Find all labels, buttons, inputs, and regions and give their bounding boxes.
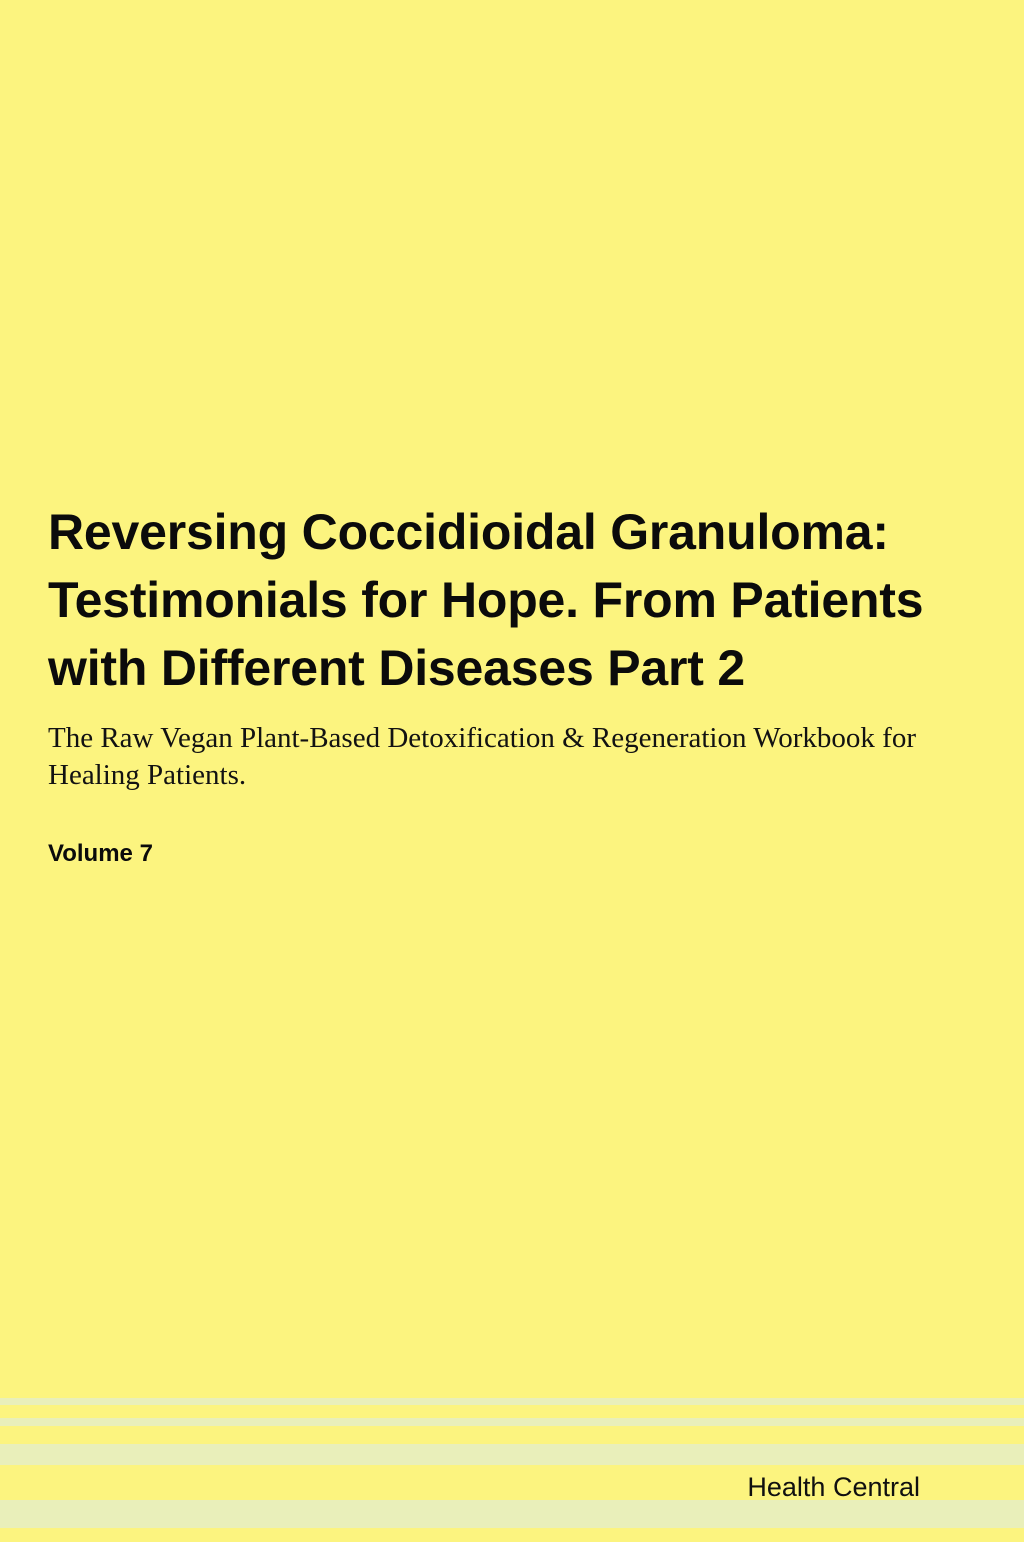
cover-subtitle: The Raw Vegan Plant-Based Detoxification…: [48, 702, 928, 794]
book-cover: Reversing Coccidioidal Granuloma: Testim…: [0, 0, 1024, 1542]
cover-text-block: Reversing Coccidioidal Granuloma: Testim…: [48, 498, 984, 868]
publisher-name: Health Central: [747, 1471, 920, 1503]
page-title: Reversing Coccidioidal Granuloma: Testim…: [48, 498, 978, 702]
stripe-pale-3: [0, 1444, 1024, 1465]
volume-label: Volume 7: [48, 794, 984, 868]
stripe-pale-1: [0, 1398, 1024, 1405]
stripe-pale-4: [0, 1500, 1024, 1528]
stripe-pale-2: [0, 1418, 1024, 1426]
bottom-stripe-band: [0, 1390, 1024, 1542]
